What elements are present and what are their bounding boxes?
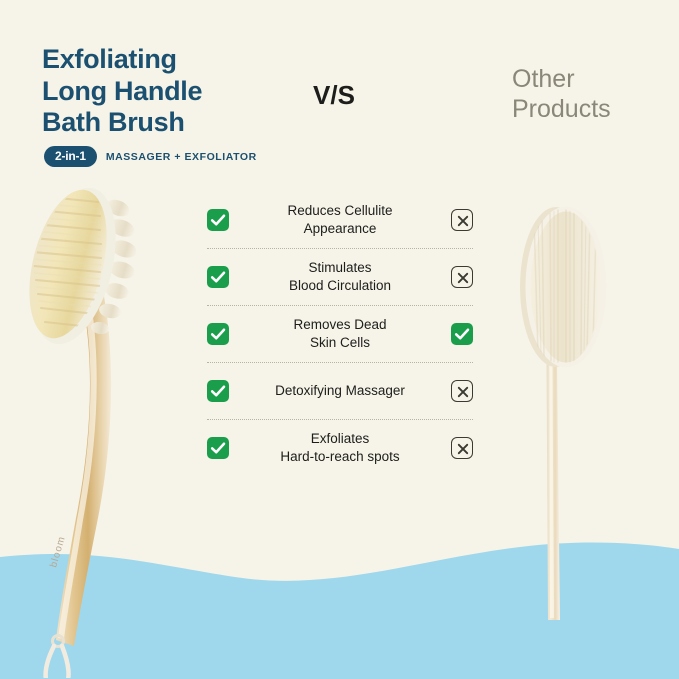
feature-label-line: Detoxifying Massager — [237, 382, 443, 400]
cross-icon-theirs-row-5 — [451, 437, 473, 459]
comparison-row: StimulatesBlood Circulation — [207, 249, 473, 305]
cross-icon-theirs-row-4 — [451, 380, 473, 402]
comparison-row: ExfoliatesHard-to-reach spots — [207, 420, 473, 476]
cross-icon-theirs-row-2 — [451, 266, 473, 288]
product-title-line-3: Bath Brush — [42, 107, 292, 139]
check-icon-ours-row-1 — [207, 209, 229, 231]
competitor-image-bath-brush — [486, 182, 636, 652]
badge-2-in-1: 2-in-1 — [44, 146, 97, 167]
competitor-title-line-1: Other — [512, 64, 672, 94]
feature-label-line: Appearance — [237, 220, 443, 238]
badge-row: 2-in-1 MASSAGER + EXFOLIATOR — [44, 146, 257, 167]
check-icon-ours-row-5 — [207, 437, 229, 459]
feature-label-line: Skin Cells — [237, 334, 443, 352]
feature-label-line: Hard-to-reach spots — [237, 448, 443, 466]
product-title-line-2: Long Handle — [42, 76, 292, 108]
competitor-title: Other Products — [512, 64, 672, 124]
feature-label-4: Detoxifying Massager — [229, 382, 451, 400]
feature-label-line: Exfoliates — [237, 430, 443, 448]
comparison-row: Reduces CelluliteAppearance — [207, 192, 473, 248]
comparison-row: Detoxifying Massager — [207, 363, 473, 419]
comparison-row: Removes DeadSkin Cells — [207, 306, 473, 362]
check-icon-ours-row-4 — [207, 380, 229, 402]
feature-label-line: Stimulates — [237, 259, 443, 277]
feature-label-3: Removes DeadSkin Cells — [229, 316, 451, 352]
versus-label: V/S — [313, 80, 355, 111]
check-icon-theirs-row-3 — [451, 323, 473, 345]
competitor-title-line-2: Products — [512, 94, 672, 124]
badge-subtitle: MASSAGER + EXFOLIATOR — [106, 151, 257, 163]
product-title-line-1: Exfoliating — [42, 44, 292, 76]
feature-label-line: Blood Circulation — [237, 277, 443, 295]
product-image-bath-brush: bloom — [12, 178, 202, 678]
product-title: Exfoliating Long Handle Bath Brush — [42, 44, 292, 139]
infographic-canvas: bloom — [0, 0, 679, 679]
feature-label-line: Reduces Cellulite — [237, 202, 443, 220]
feature-label-line: Removes Dead — [237, 316, 443, 334]
brush-handle — [56, 296, 111, 646]
feature-label-5: ExfoliatesHard-to-reach spots — [229, 430, 451, 466]
comparison-table: Reduces CelluliteAppearanceStimulatesBlo… — [207, 192, 473, 476]
feature-label-1: Reduces CelluliteAppearance — [229, 202, 451, 238]
check-icon-ours-row-3 — [207, 323, 229, 345]
feature-label-2: StimulatesBlood Circulation — [229, 259, 451, 295]
brand-mark-text: bloom — [48, 535, 67, 569]
check-icon-ours-row-2 — [207, 266, 229, 288]
cross-icon-theirs-row-1 — [451, 209, 473, 231]
